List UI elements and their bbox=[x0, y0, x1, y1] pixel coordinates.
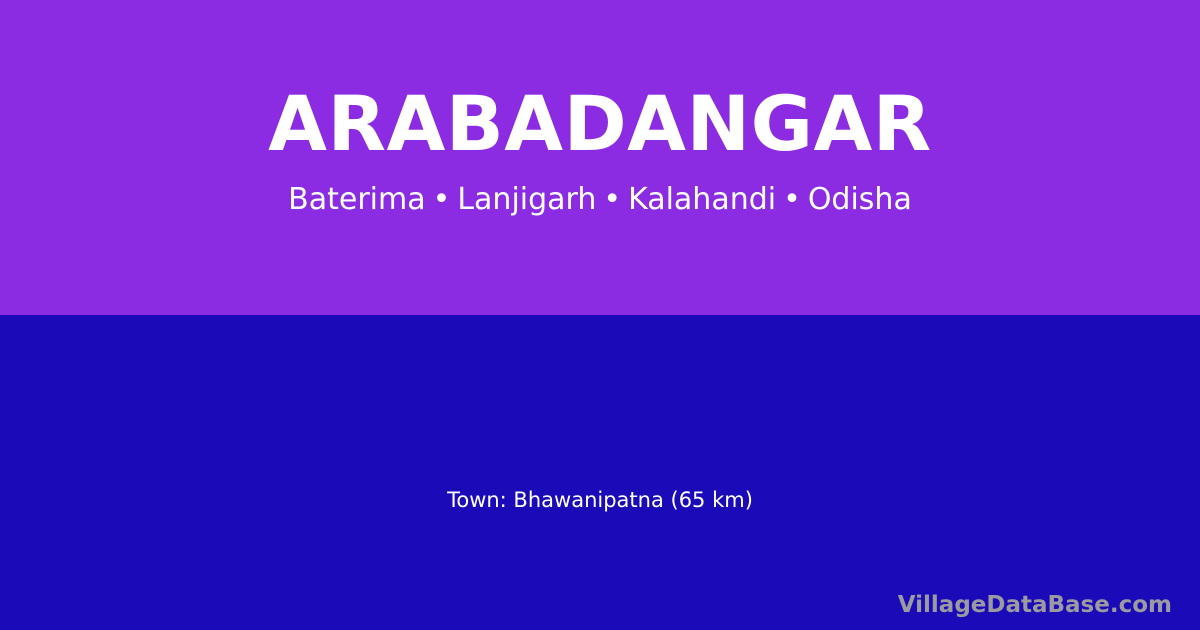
breadcrumb-separator: • bbox=[426, 181, 458, 219]
nearest-town-label: Town: Bhawanipatna (65 km) bbox=[0, 485, 1200, 515]
header-band: ARABADANGAR Baterima•Lanjigarh•Kalahandi… bbox=[0, 0, 1200, 315]
breadcrumb-item-state: Odisha bbox=[808, 182, 912, 217]
breadcrumb-separator: • bbox=[776, 181, 808, 219]
breadcrumb-item-panchayat: Baterima bbox=[288, 182, 425, 217]
breadcrumb-item-block: Lanjigarh bbox=[457, 182, 596, 217]
body-band bbox=[0, 315, 1200, 630]
breadcrumb-item-district: Kalahandi bbox=[628, 182, 776, 217]
breadcrumb: Baterima•Lanjigarh•Kalahandi•Odisha bbox=[0, 181, 1200, 219]
village-info-card: ARABADANGAR Baterima•Lanjigarh•Kalahandi… bbox=[0, 0, 1200, 630]
breadcrumb-separator: • bbox=[596, 181, 628, 219]
site-watermark: VillageDataBase.com bbox=[898, 590, 1172, 620]
page-title: ARABADANGAR bbox=[0, 84, 1200, 164]
